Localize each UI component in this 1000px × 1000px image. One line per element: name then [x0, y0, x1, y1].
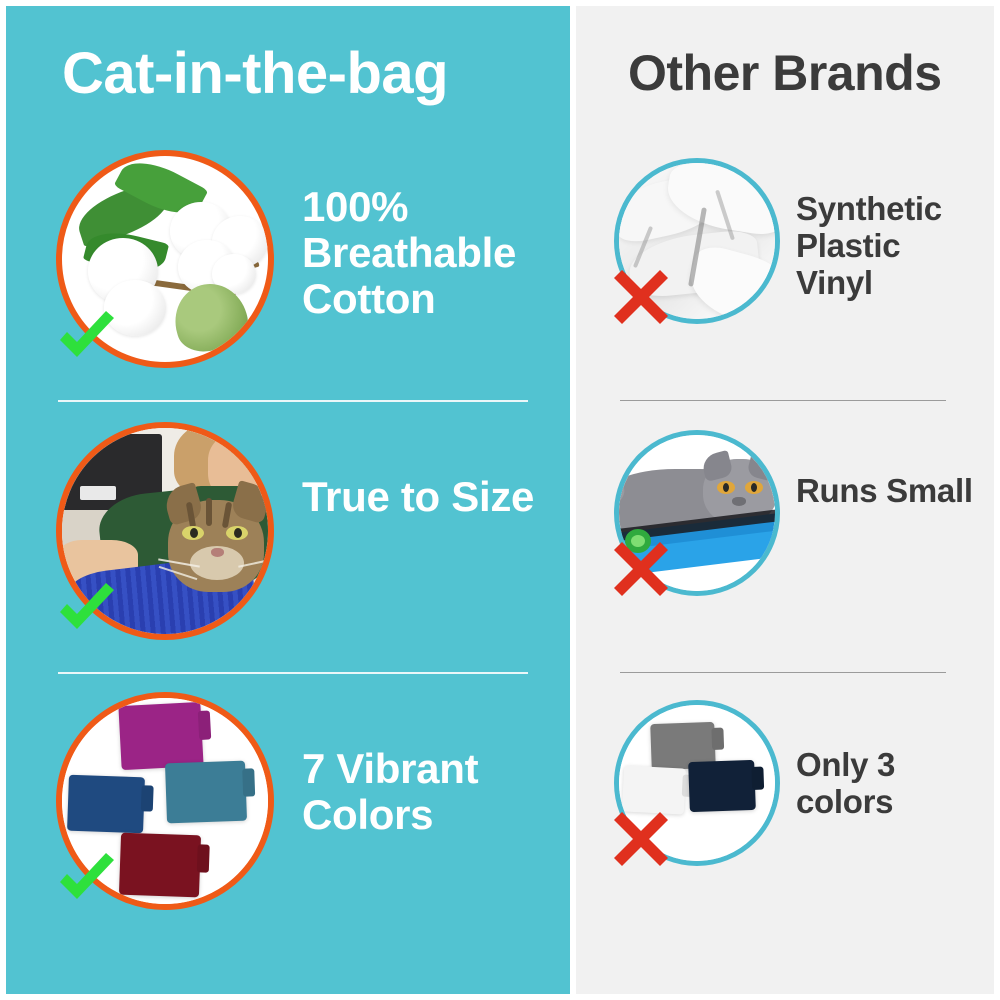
- comparison-infographic: Cat-in-the-bag Other Brands: [0, 0, 1000, 1000]
- brand-column-title: Cat-in-the-bag: [62, 40, 448, 107]
- red-cross-icon: [608, 536, 674, 602]
- other-feature-1-text: Synthetic Plastic Vinyl: [796, 190, 982, 301]
- other-divider-1: [620, 400, 946, 401]
- green-check-icon: [50, 844, 124, 918]
- green-check-icon: [50, 574, 124, 648]
- brand-feature-row-3: 7 Vibrant Colors: [46, 682, 546, 932]
- brand-feature-3-badge: [56, 692, 274, 910]
- brand-feature-row-2: True to Size: [46, 412, 546, 652]
- brand-feature-1-text: 100% Breathable Cotton: [302, 184, 552, 322]
- brand-feature-2-badge: [56, 422, 274, 640]
- green-check-icon: [50, 302, 124, 376]
- other-feature-3-badge: [614, 700, 780, 866]
- other-feature-3-text: Only 3 colors: [796, 746, 982, 820]
- red-cross-icon: [608, 806, 674, 872]
- brand-divider-1: [58, 400, 528, 402]
- brand-feature-2-text: True to Size: [302, 474, 552, 520]
- brand-feature-1-badge: [56, 150, 274, 368]
- brand-feature-row-1: 100% Breathable Cotton: [46, 140, 546, 380]
- other-feature-2-badge: [614, 430, 780, 596]
- red-cross-icon: [608, 264, 674, 330]
- brand-divider-2: [58, 672, 528, 674]
- other-feature-2-text: Runs Small: [796, 472, 982, 509]
- other-divider-2: [620, 672, 946, 673]
- other-column-title: Other Brands: [628, 44, 942, 102]
- brand-feature-3-text: 7 Vibrant Colors: [302, 746, 552, 838]
- other-feature-1-badge: [614, 158, 780, 324]
